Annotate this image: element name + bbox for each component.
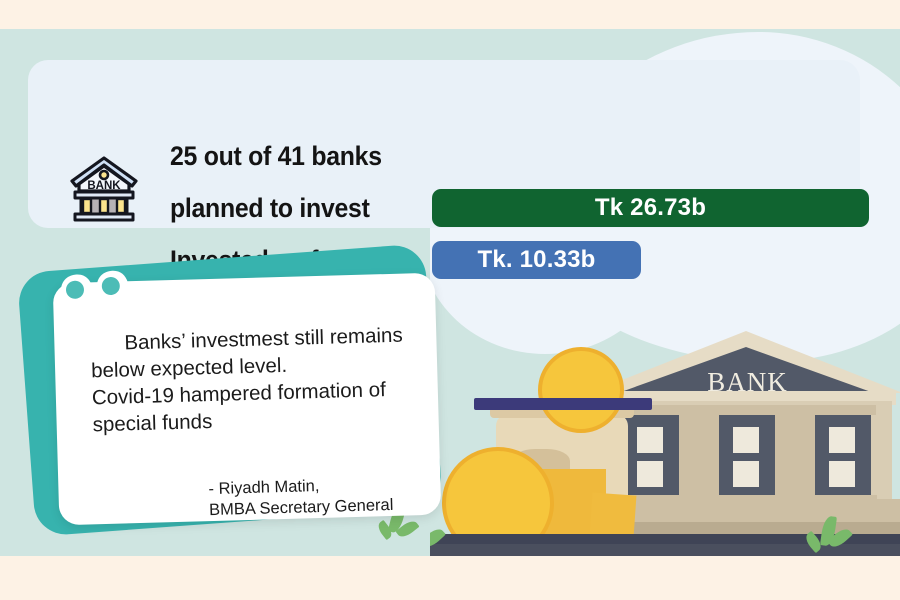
column-window [637,427,663,453]
ground-line [430,544,900,556]
top-cream-band [0,0,900,29]
column-gap [775,405,815,501]
column-window [829,427,855,453]
stat-label-total: 25 out of 41 banks [170,141,411,172]
infographic-canvas: BANK [0,0,900,600]
column-window [733,461,759,487]
stat-card: BANK 25 out of 41 banks planned to inves… [28,60,860,228]
jar-lid [474,398,652,410]
column-capital [810,405,876,415]
bank-building-icon: BANK [68,153,140,225]
building-column [719,405,775,501]
gold-coin-icon [538,347,624,433]
column-gap [679,405,719,501]
svg-text:BANK: BANK [87,180,121,192]
column-window [829,461,855,487]
building-column [815,405,871,501]
building-column [623,405,679,501]
quote-line-4: Covid-19 hampered formation [92,379,364,410]
bar-planned-to-invest: Tk 26.73b [432,189,869,227]
quote-line-3: level. [239,354,287,378]
quote-line-1: Banks’ investmest still [124,326,324,355]
double-quote-icon [60,268,144,328]
quote-attribution: - Riyadh Matin, BMBA Secretary General [208,473,439,521]
quote-text: Banks’ investmest still remains below ex… [90,321,413,438]
quote-block: Banks’ investmest still remains below ex… [18,250,478,550]
column-capital [714,405,780,415]
stat-row-planned: planned to invest Tk 26.73b [170,182,880,234]
bottom-cream-band [0,556,900,600]
bank-building-graphic: BANK [595,339,900,554]
stat-label-planned: planned to invest [170,193,411,224]
stat-row-total: 25 out of 41 banks [170,130,880,182]
column-window [733,427,759,453]
column-window [637,461,663,487]
